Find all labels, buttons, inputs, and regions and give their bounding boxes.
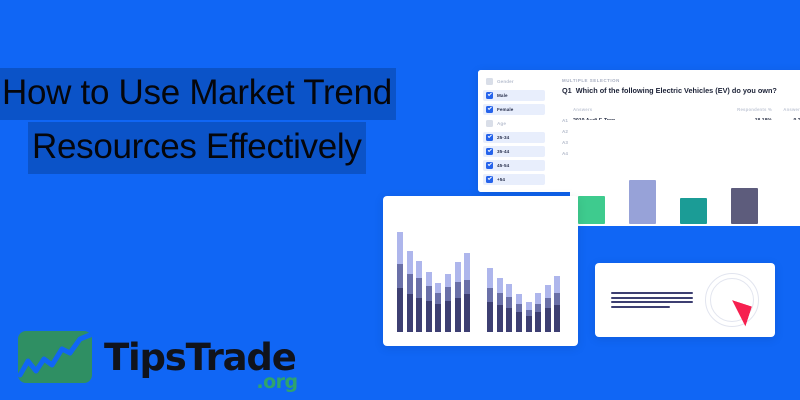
filter-option-35-44[interactable]: 35-44 xyxy=(483,146,545,157)
bar-group-2 xyxy=(487,210,560,332)
filter-option-25-34[interactable]: 25-34 xyxy=(483,132,545,143)
stacked-bar xyxy=(455,262,461,332)
checkbox-checked-icon[interactable] xyxy=(486,134,493,141)
logo-wordmark: TipsTrade .org xyxy=(104,339,296,376)
bar-group-1 xyxy=(397,210,470,332)
stacked-bar xyxy=(397,232,403,332)
color-bar-2 xyxy=(629,180,656,224)
question-title: Q1 Which of the following Electric Vehic… xyxy=(562,86,800,96)
headline-line-1: How to Use Market Trend xyxy=(0,68,470,120)
color-bar-3 xyxy=(680,198,707,224)
checkbox-checked-icon[interactable] xyxy=(486,162,493,169)
stacked-bar xyxy=(506,284,512,332)
color-bar-chart xyxy=(578,176,798,224)
filter-label: Age xyxy=(497,121,506,127)
filter-group-gender: Gender xyxy=(483,76,545,87)
filter-label: Male xyxy=(497,93,508,99)
pie-legend-lines xyxy=(611,292,693,308)
filter-label: Female xyxy=(497,107,513,113)
promo-banner: Gender Male Female Age 25-34 35-44 xyxy=(0,0,800,400)
filter-label: +54 xyxy=(497,177,505,183)
table-header-row: Answers Respondents % Answers % xyxy=(562,104,800,115)
filter-option-female[interactable]: Female xyxy=(483,104,545,115)
logo-tld: .org xyxy=(256,373,297,392)
checkbox-checked-icon[interactable] xyxy=(486,92,493,99)
stacked-bar-chart xyxy=(397,210,566,332)
checkbox-icon[interactable] xyxy=(486,120,493,127)
checkbox-icon[interactable] xyxy=(486,78,493,85)
filter-label: 35-44 xyxy=(497,149,509,155)
filter-label: Gender xyxy=(497,79,514,85)
color-bar-1 xyxy=(578,196,605,224)
stacked-bar xyxy=(554,276,560,332)
question-number: Q1 xyxy=(562,86,572,95)
trend-line-icon xyxy=(18,331,92,383)
filter-option-54-plus[interactable]: +54 xyxy=(483,174,545,185)
survey-filter-sidebar: Gender Male Female Age 25-34 35-44 xyxy=(478,70,550,192)
checkbox-checked-icon[interactable] xyxy=(486,106,493,113)
filter-option-45-54[interactable]: 45-54 xyxy=(483,160,545,171)
header-answers-pct: Answers % xyxy=(772,107,800,112)
filter-label: 25-34 xyxy=(497,135,509,141)
stacked-bar xyxy=(407,251,413,332)
site-logo[interactable]: TipsTrade .org xyxy=(18,331,296,383)
stacked-bar xyxy=(435,283,441,332)
stacked-bar xyxy=(445,274,451,332)
checkbox-checked-icon[interactable] xyxy=(486,176,493,183)
stacked-bar-chart-card xyxy=(383,196,578,346)
filter-option-male[interactable]: Male xyxy=(483,90,545,101)
header-respondents-pct: Respondents % xyxy=(736,107,772,112)
stacked-bar xyxy=(416,261,422,332)
header-answers: Answers xyxy=(573,107,670,112)
stacked-bar xyxy=(487,268,493,332)
filter-group-age: Age xyxy=(483,118,545,129)
filter-label: 45-54 xyxy=(497,163,509,169)
stacked-bar xyxy=(535,293,541,332)
checkbox-checked-icon[interactable] xyxy=(486,148,493,155)
headline-line-2: Resources Effectively xyxy=(28,122,470,174)
question-text: Which of the following Electric Vehicles… xyxy=(576,86,777,95)
stacked-bar xyxy=(426,272,432,332)
stacked-bar xyxy=(497,278,503,332)
stacked-bar xyxy=(464,253,470,332)
page-title: How to Use Market Trend Resources Effect… xyxy=(0,68,470,174)
color-bar-4 xyxy=(731,188,758,224)
pie-chart-card xyxy=(595,263,775,337)
stacked-bar xyxy=(516,294,522,332)
question-type-label: MULTIPLE SELECTION xyxy=(562,78,800,83)
stacked-bar xyxy=(526,302,532,332)
pie-chart xyxy=(705,273,759,327)
stacked-bar xyxy=(545,285,551,332)
